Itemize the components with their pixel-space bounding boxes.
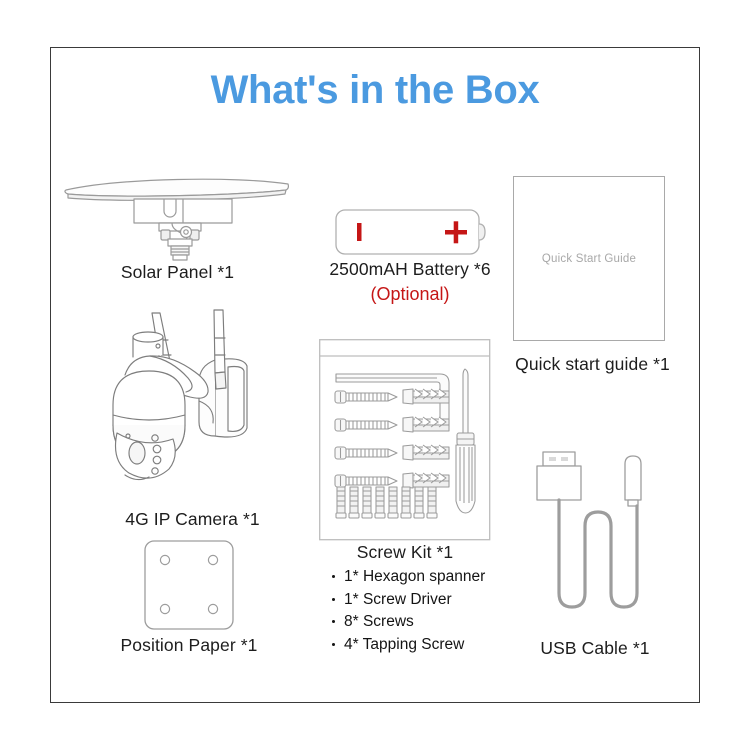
position-paper-label: Position Paper *1 <box>96 635 282 656</box>
solar-panel-label: Solar Panel *1 <box>60 262 295 283</box>
battery-optional-note: (Optional) <box>300 284 520 305</box>
list-item: 8* Screws <box>330 611 530 634</box>
usb-cable-icon <box>525 448 670 633</box>
list-item: 1* Screw Driver <box>330 589 530 612</box>
packaging-contents-diagram: What's in the Box So <box>0 0 750 750</box>
quick-start-guide-label: Quick start guide *1 <box>495 354 690 375</box>
page-title: What's in the Box <box>0 68 750 113</box>
booklet-cover-text: Quick Start Guide <box>514 177 664 340</box>
screw-kit-label: Screw Kit *1 <box>319 542 491 563</box>
booklet-icon: Quick Start Guide <box>513 176 665 341</box>
list-item: 1* Hexagon spanner <box>330 566 530 589</box>
battery-label: 2500mAH Battery *6 <box>300 259 520 280</box>
screw-kit-icon <box>319 339 491 541</box>
usb-cable-label: USB Cable *1 <box>500 638 690 659</box>
position-paper-icon <box>143 539 235 631</box>
solar-panel-icon <box>60 168 295 263</box>
camera-label: 4G IP Camera *1 <box>85 509 300 530</box>
battery-icon <box>333 206 487 258</box>
ptz-camera-icon <box>95 305 285 505</box>
